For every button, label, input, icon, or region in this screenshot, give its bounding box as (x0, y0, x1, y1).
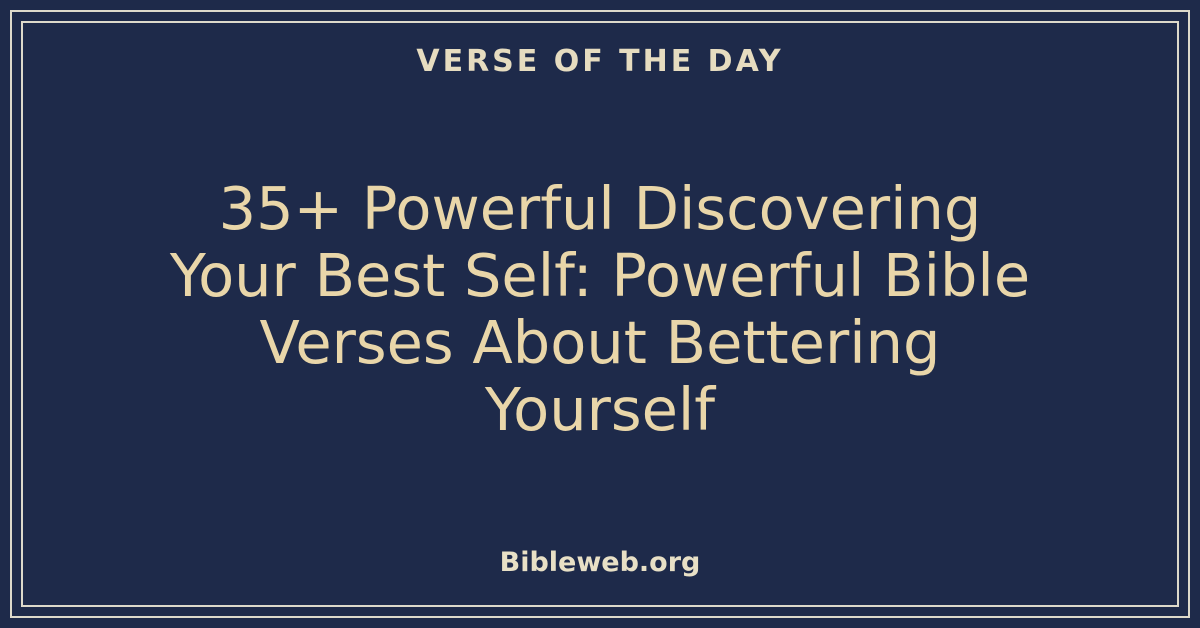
headline-line-2: Your Best Self: Powerful Bible (23, 242, 1177, 309)
page-title: 35+ Powerful Discovering Your Best Self:… (23, 175, 1177, 443)
card-content: VERSE OF THE DAY 35+ Powerful Discoverin… (23, 23, 1177, 605)
headline-line-3: Verses About Bettering (23, 309, 1177, 376)
eyebrow-label: VERSE OF THE DAY (23, 47, 1177, 77)
site-attribution: Bibleweb.org (23, 549, 1177, 576)
verse-of-the-day-card: VERSE OF THE DAY 35+ Powerful Discoverin… (0, 0, 1200, 628)
headline-line-1: 35+ Powerful Discovering (23, 175, 1177, 242)
headline-line-4: Yourself (23, 376, 1177, 443)
